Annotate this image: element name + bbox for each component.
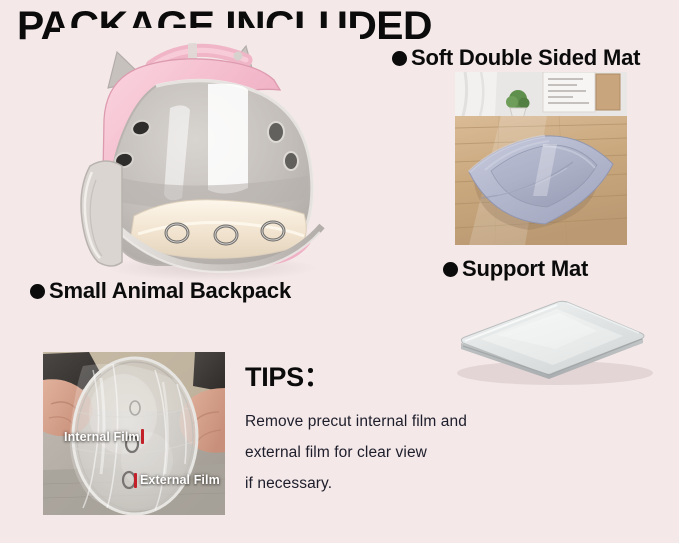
bullet-icon xyxy=(392,51,407,66)
caption-support-mat: Support Mat xyxy=(443,256,588,282)
product-photo-film-removal: Internal Film External Film xyxy=(43,352,225,515)
caption-label: Soft Double Sided Mat xyxy=(411,45,640,71)
tips-line: external film for clear view xyxy=(245,437,545,468)
tips-heading: TIPS： xyxy=(245,362,545,392)
bullet-icon xyxy=(443,262,458,277)
infographic-page: PACKAGE INCLUDED xyxy=(0,0,679,543)
tips-line: if necessary. xyxy=(245,468,545,499)
bullet-icon xyxy=(30,284,45,299)
caption-label: Small Animal Backpack xyxy=(49,278,291,304)
external-film-label: External Film xyxy=(140,473,220,487)
tips-line: Remove precut internal film and xyxy=(245,406,545,437)
external-film-tick-marker xyxy=(134,473,137,488)
product-photo-backpack xyxy=(60,28,360,283)
caption-soft-double-sided-mat: Soft Double Sided Mat xyxy=(392,45,640,71)
tips-block: TIPS： Remove precut internal film and ex… xyxy=(245,362,545,499)
internal-film-label: Internal Film xyxy=(64,430,140,444)
tips-body: Remove precut internal film and external… xyxy=(245,406,545,499)
product-photo-soft-mat xyxy=(455,72,627,245)
caption-small-animal-backpack: Small Animal Backpack xyxy=(30,278,291,304)
caption-label: Support Mat xyxy=(462,256,588,282)
internal-film-tick-marker xyxy=(141,429,144,444)
